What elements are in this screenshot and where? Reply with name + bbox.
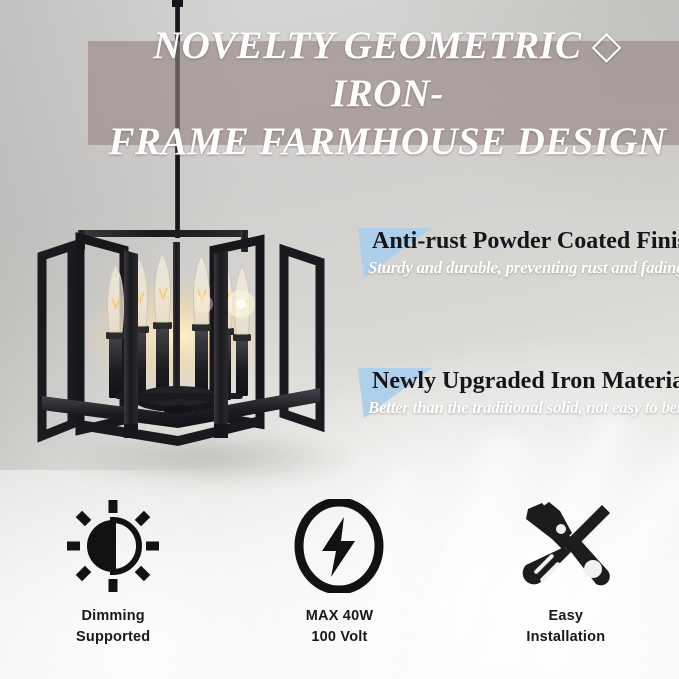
chandelier-product-image [28,228,338,458]
spec-installation: Easy Installation [453,498,679,668]
feature-title: Anti-rust Powder Coated Finish [372,226,679,256]
spec-dimming: Dimming Supported [0,498,226,668]
feature-subtitle: Sturdy and durable, preventing rust and … [368,257,679,279]
feature-callout-2: Newly Upgraded Iron Material Better than… [358,366,679,419]
spec-row: Dimming Supported MAX 40W 100 Volt [0,498,679,668]
feature-title: Newly Upgraded Iron Material [372,366,679,396]
frame-post-front-left [124,250,138,434]
product-feature-image: NOVELTY GEOMETRIC ◇ IRON- FRAME FARMHOUS… [0,0,679,679]
frame-post-front-right [214,250,228,434]
dimming-sun-icon [66,498,160,594]
feature-subtitle: Better than the traditional solid, not e… [368,397,679,419]
lightning-bolt-circle-icon [292,498,386,594]
spec-label: Dimming Supported [76,606,150,648]
spec-label: Easy Installation [526,606,605,648]
spec-label: MAX 40W 100 Volt [306,606,373,648]
feature-callout-1: Anti-rust Powder Coated Finish Sturdy an… [358,226,679,279]
spec-wattage: MAX 40W 100 Volt [226,498,452,668]
headline-text: NOVELTY GEOMETRIC ◇ IRON- FRAME FARMHOUS… [96,44,679,144]
pliers-screwdriver-icon [516,498,616,594]
ceiling-mount-cap [172,0,183,7]
